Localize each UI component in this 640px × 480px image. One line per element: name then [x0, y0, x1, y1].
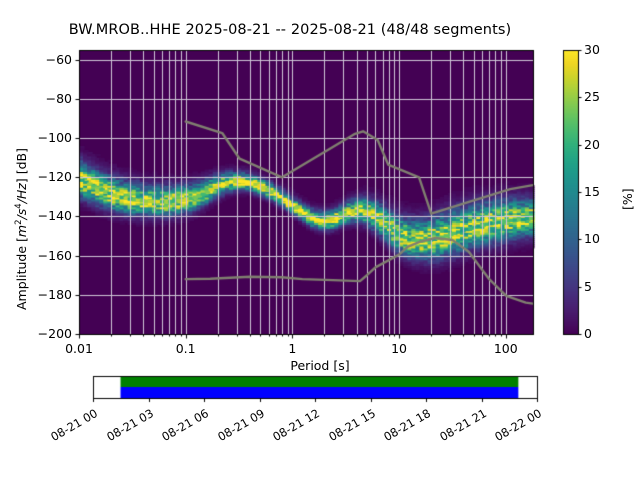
- y-tick-label: −140: [0, 208, 72, 223]
- colorbar-tick-label: 10: [584, 231, 600, 246]
- y-tick-label: −180: [0, 287, 72, 302]
- x-tick-label: 10: [369, 341, 429, 356]
- colorbar-tick-label: 25: [584, 89, 600, 104]
- y-tick-label: −120: [0, 169, 72, 184]
- x-axis-label: Period [s]: [0, 358, 640, 373]
- colorbar-tick-label: 20: [584, 137, 600, 152]
- y-tick-label: −80: [0, 91, 72, 106]
- y-tick-label: −160: [0, 248, 72, 263]
- colorbar-tick-label: 30: [584, 42, 600, 57]
- ppsd-plot-canvas: [0, 0, 640, 480]
- x-tick-label: 0.1: [156, 341, 216, 356]
- y-tick-label: −200: [0, 326, 72, 341]
- x-tick-label: 100: [476, 341, 536, 356]
- colorbar-tick-label: 15: [584, 184, 600, 199]
- x-tick-label: 0.01: [49, 341, 109, 356]
- y-tick-label: −60: [0, 52, 72, 67]
- ppsd-figure: BW.MROB..HHE 2025-08-21 -- 2025-08-21 (4…: [0, 0, 640, 480]
- colorbar-label: [%]: [620, 188, 635, 210]
- colorbar-tick-label: 0: [584, 326, 592, 341]
- x-tick-label: 1: [262, 341, 322, 356]
- y-tick-label: −100: [0, 130, 72, 145]
- colorbar-tick-label: 5: [584, 279, 592, 294]
